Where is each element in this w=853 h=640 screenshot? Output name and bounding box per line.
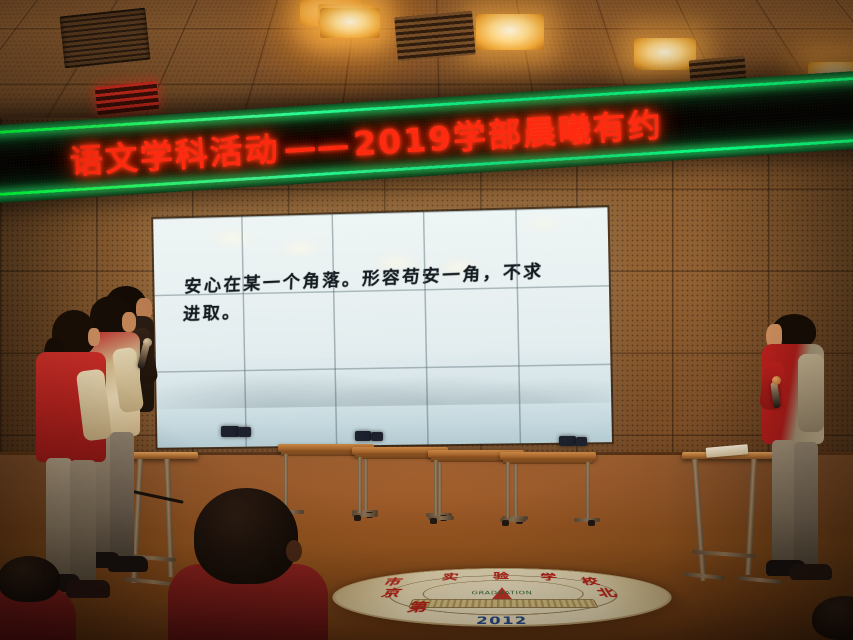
- student-presenter-right: [758, 314, 836, 592]
- speaker-unit-right: [559, 436, 576, 446]
- student-presenter-left-front: [36, 310, 122, 596]
- emblem-year: 2012: [475, 614, 528, 627]
- audience-member-left-edge: [0, 556, 76, 640]
- speaker-unit-center-b: [371, 432, 383, 441]
- emblem-char-2: 学: [539, 571, 559, 582]
- leg-left: [772, 440, 796, 564]
- audience-member-right-edge: [812, 596, 853, 640]
- emblem-inner-label: GRADUATION: [471, 590, 533, 595]
- podium-right-leg-front: [692, 459, 706, 581]
- audience-ear: [286, 540, 302, 562]
- table-leg-left: [358, 457, 362, 515]
- leg-right: [794, 442, 818, 566]
- emblem-char-1: 验: [493, 570, 509, 581]
- table-leg-left: [506, 462, 510, 520]
- face: [122, 312, 136, 332]
- audience-member-foreground: [168, 488, 328, 640]
- table-foot-right: [574, 518, 600, 522]
- speaker-unit-left: [221, 426, 239, 437]
- table-caster-left: [354, 515, 361, 521]
- ceiling-light-4: [476, 14, 544, 50]
- stage-table-4: [500, 452, 596, 524]
- speaker-unit-left-b: [238, 427, 251, 437]
- ceiling-light-3: [320, 8, 380, 38]
- video-wall[interactable]: 安心在某一个角落。形容苟安一角，不求 进取。: [153, 207, 612, 448]
- microphone-head-left: [143, 338, 152, 347]
- table-caster-left: [430, 518, 437, 524]
- audience-head: [194, 488, 298, 584]
- ceiling-grille-1: [394, 11, 476, 62]
- table-leg-right: [586, 462, 590, 520]
- table-caster-right: [588, 520, 595, 526]
- table-top: [500, 452, 596, 460]
- table-caster-left: [502, 520, 509, 526]
- shoe-right: [790, 564, 832, 580]
- table-leg-left: [434, 460, 438, 518]
- banner-dash: ——: [282, 125, 350, 168]
- audience-head: [0, 556, 60, 602]
- speaker-unit-center: [355, 431, 371, 441]
- video-wall-bezel: [151, 205, 614, 450]
- table-apron: [503, 460, 593, 464]
- school-floor-emblem: GRADUATION 实 验 学 校 北 京 市 第 2012: [299, 568, 704, 627]
- auditorium-scene: 语文学科活动——2019学部晨曦有约 安心在某一个角落。形容苟安一角，不求 进取…: [0, 0, 853, 640]
- arm-sleeve-grey: [798, 354, 824, 432]
- face: [88, 328, 100, 346]
- ceiling-air-vent-1: [60, 8, 151, 69]
- emblem-book-icon: [408, 599, 598, 608]
- microphone-head-right: [772, 376, 781, 385]
- emblem-disc: GRADUATION 实 验 学 校 北 京 市 第 2012: [299, 568, 704, 627]
- emblem-char-0: 实: [440, 571, 460, 582]
- ceiling-light-5: [634, 38, 696, 70]
- speaker-unit-right-b: [576, 437, 587, 446]
- audience-head: [812, 596, 853, 640]
